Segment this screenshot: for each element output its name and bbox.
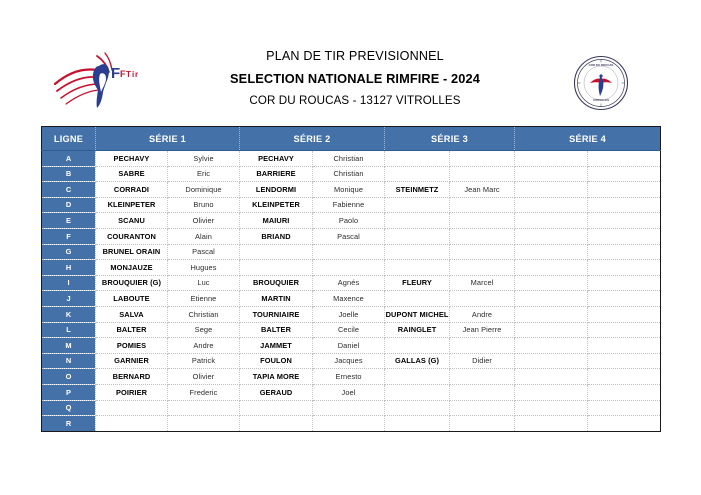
cell-serie4-firstname[interactable]: [588, 400, 661, 416]
cell-serie3-lastname[interactable]: FLEURY: [385, 275, 450, 291]
cell-serie4-firstname[interactable]: [588, 166, 661, 182]
cell-serie2-firstname[interactable]: Christian: [313, 166, 385, 182]
cell-serie3-firstname[interactable]: Jean Pierre: [450, 322, 515, 338]
row-line-label-n: N: [42, 353, 96, 369]
cell-serie2-lastname[interactable]: BALTER: [240, 322, 313, 338]
cell-serie1-firstname[interactable]: Dominique: [168, 182, 240, 198]
cell-serie4-lastname[interactable]: [515, 197, 588, 213]
svg-text:COR DU ROUCAS: COR DU ROUCAS: [589, 63, 614, 67]
cell-serie3-firstname[interactable]: Marcel: [450, 275, 515, 291]
cell-serie3-lastname[interactable]: [385, 400, 450, 416]
cell-serie2-lastname[interactable]: BRIAND: [240, 228, 313, 244]
cell-serie2-lastname[interactable]: TOURNIAIRE: [240, 306, 313, 322]
cell-serie4-firstname[interactable]: [588, 291, 661, 307]
cell-serie1-firstname[interactable]: Hugues: [168, 260, 240, 276]
row-line-label-j: J: [42, 291, 96, 307]
cell-serie2-lastname[interactable]: [240, 400, 313, 416]
cell-serie3-lastname[interactable]: [385, 166, 450, 182]
table-row: R: [42, 416, 661, 432]
cell-serie1-firstname[interactable]: Andre: [168, 338, 240, 354]
cell-serie3-firstname[interactable]: [450, 369, 515, 385]
cell-serie1-lastname[interactable]: BRUNEL ORAIN: [96, 244, 168, 260]
cell-serie3-lastname[interactable]: [385, 369, 450, 385]
cell-serie1-lastname[interactable]: PECHAVY: [96, 151, 168, 167]
column-header-ligne: LIGNE: [42, 127, 96, 151]
cell-serie4-firstname[interactable]: [588, 338, 661, 354]
cell-serie1-lastname[interactable]: BROUQUIER (G): [96, 275, 168, 291]
cell-serie2-firstname[interactable]: [313, 416, 385, 432]
cell-serie3-lastname[interactable]: [385, 151, 450, 167]
cell-serie3-firstname[interactable]: [450, 166, 515, 182]
cell-serie4-lastname[interactable]: [515, 275, 588, 291]
cell-serie4-firstname[interactable]: [588, 353, 661, 369]
title-block: PLAN DE TIR PREVISIONNEL SELECTION NATIO…: [155, 48, 555, 109]
row-line-label-g: G: [42, 244, 96, 260]
table-row: LBALTERSegeBALTERCecileRAINGLETJean Pier…: [42, 322, 661, 338]
cell-serie2-firstname[interactable]: Joelle: [313, 306, 385, 322]
row-line-label-h: H: [42, 260, 96, 276]
fftir-federation-logo: F F T i r: [53, 48, 153, 112]
column-header-serie-1: SÉRIE 1: [96, 127, 240, 151]
cell-serie2-lastname[interactable]: [240, 416, 313, 432]
table-row: OBERNARDOlivierTAPIA MOREErnesto: [42, 369, 661, 385]
cell-serie3-firstname[interactable]: [450, 384, 515, 400]
cell-serie2-lastname[interactable]: KLEINPETER: [240, 197, 313, 213]
cell-serie1-lastname[interactable]: BALTER: [96, 322, 168, 338]
cell-serie4-firstname[interactable]: [588, 213, 661, 229]
cell-serie4-lastname[interactable]: [515, 384, 588, 400]
cell-serie1-lastname[interactable]: SABRE: [96, 166, 168, 182]
cell-serie2-firstname[interactable]: Fabienne: [313, 197, 385, 213]
cell-serie4-firstname[interactable]: [588, 260, 661, 276]
cell-serie4-lastname[interactable]: [515, 338, 588, 354]
cell-serie3-lastname[interactable]: [385, 291, 450, 307]
cell-serie3-firstname[interactable]: [450, 260, 515, 276]
cell-serie1-lastname[interactable]: MONJAUZE: [96, 260, 168, 276]
table-row: GBRUNEL ORAINPascal: [42, 244, 661, 260]
row-line-label-k: K: [42, 306, 96, 322]
cell-serie2-lastname[interactable]: MARTIN: [240, 291, 313, 307]
shooting-plan-table: LIGNE SÉRIE 1 SÉRIE 2 SÉRIE 3 SÉRIE 4 AP…: [41, 126, 661, 432]
cell-serie1-lastname[interactable]: SCANU: [96, 213, 168, 229]
cell-serie4-lastname[interactable]: [515, 182, 588, 198]
cell-serie1-firstname[interactable]: Christian: [168, 306, 240, 322]
cell-serie4-firstname[interactable]: [588, 416, 661, 432]
cell-serie3-lastname[interactable]: [385, 228, 450, 244]
page-title: PLAN DE TIR PREVISIONNEL: [155, 48, 555, 65]
table-header-row: LIGNE SÉRIE 1 SÉRIE 2 SÉRIE 3 SÉRIE 4: [42, 127, 661, 151]
page-location: COR DU ROUCAS - 13127 VITROLLES: [155, 93, 555, 109]
cell-serie2-firstname[interactable]: Monique: [313, 182, 385, 198]
cell-serie2-lastname[interactable]: [240, 244, 313, 260]
cell-serie2-lastname[interactable]: GERAUD: [240, 384, 313, 400]
cell-serie1-firstname[interactable]: Sylvie: [168, 151, 240, 167]
cell-serie4-firstname[interactable]: [588, 306, 661, 322]
row-line-label-b: B: [42, 166, 96, 182]
document-header: F F T i r PLAN DE TIR PREVISIONNEL SELEC…: [0, 0, 701, 122]
cell-serie1-firstname[interactable]: Pascal: [168, 244, 240, 260]
cell-serie4-lastname[interactable]: [515, 151, 588, 167]
table-row: ESCANUOlivierMAIURIPaolo: [42, 213, 661, 229]
cell-serie4-lastname[interactable]: [515, 166, 588, 182]
svg-text:r: r: [135, 70, 138, 79]
row-line-label-m: M: [42, 338, 96, 354]
row-line-label-l: L: [42, 322, 96, 338]
cell-serie4-firstname[interactable]: [588, 228, 661, 244]
cell-serie3-firstname[interactable]: [450, 244, 515, 260]
row-line-label-a: A: [42, 151, 96, 167]
cell-serie2-firstname[interactable]: Agnés: [313, 275, 385, 291]
cell-serie4-lastname[interactable]: [515, 306, 588, 322]
cell-serie1-lastname[interactable]: LABOUTE: [96, 291, 168, 307]
svg-text:VITROLLES: VITROLLES: [593, 98, 609, 102]
cell-serie3-lastname[interactable]: [385, 260, 450, 276]
cell-serie1-lastname[interactable]: SALVA: [96, 306, 168, 322]
cell-serie1-lastname[interactable]: COURANTON: [96, 228, 168, 244]
cell-serie1-firstname[interactable]: Olivier: [168, 213, 240, 229]
cell-serie1-firstname[interactable]: Sege: [168, 322, 240, 338]
cell-serie4-firstname[interactable]: [588, 322, 661, 338]
cell-serie1-lastname[interactable]: POMIES: [96, 338, 168, 354]
cell-serie3-lastname[interactable]: [385, 384, 450, 400]
table-row: FCOURANTONAlainBRIANDPascal: [42, 228, 661, 244]
cell-serie2-firstname[interactable]: Pascal: [313, 228, 385, 244]
cell-serie3-lastname[interactable]: [385, 197, 450, 213]
column-header-serie-2: SÉRIE 2: [240, 127, 385, 151]
cell-serie4-lastname[interactable]: [515, 213, 588, 229]
cell-serie4-lastname[interactable]: [515, 260, 588, 276]
row-line-label-r: R: [42, 416, 96, 432]
cell-serie3-firstname[interactable]: [450, 291, 515, 307]
cell-serie2-firstname[interactable]: Joel: [313, 384, 385, 400]
cell-serie3-firstname[interactable]: [450, 213, 515, 229]
row-line-label-p: P: [42, 384, 96, 400]
table-row: MPOMIESAndreJAMMETDaniel: [42, 338, 661, 354]
cell-serie4-lastname[interactable]: [515, 353, 588, 369]
cell-serie3-lastname[interactable]: RAINGLET: [385, 322, 450, 338]
cell-serie1-firstname[interactable]: [168, 416, 240, 432]
cell-serie2-firstname[interactable]: Maxence: [313, 291, 385, 307]
row-line-label-q: Q: [42, 400, 96, 416]
page-subtitle: SELECTION NATIONALE RIMFIRE - 2024: [155, 70, 555, 87]
cell-serie3-firstname[interactable]: [450, 151, 515, 167]
cell-serie3-firstname[interactable]: Didier: [450, 353, 515, 369]
column-header-serie-4: SÉRIE 4: [515, 127, 661, 151]
cell-serie1-firstname[interactable]: Bruno: [168, 197, 240, 213]
row-line-label-o: O: [42, 369, 96, 385]
cell-serie2-lastname[interactable]: JAMMET: [240, 338, 313, 354]
cell-serie2-lastname[interactable]: LENDORMI: [240, 182, 313, 198]
cell-serie1-lastname[interactable]: CORRADI: [96, 182, 168, 198]
svg-text:i: i: [132, 70, 134, 79]
cell-serie4-firstname[interactable]: [588, 197, 661, 213]
cell-serie3-lastname[interactable]: [385, 244, 450, 260]
table-row: PPOIRIERFredericGERAUDJoel: [42, 384, 661, 400]
cell-serie4-lastname[interactable]: [515, 416, 588, 432]
cell-serie2-firstname[interactable]: Cecile: [313, 322, 385, 338]
cell-serie4-lastname[interactable]: [515, 369, 588, 385]
cell-serie2-lastname[interactable]: BARRIERE: [240, 166, 313, 182]
cell-serie2-lastname[interactable]: FOULON: [240, 353, 313, 369]
svg-text:T: T: [126, 70, 131, 79]
cell-serie2-firstname[interactable]: [313, 400, 385, 416]
cell-serie3-lastname[interactable]: GALLAS (G): [385, 353, 450, 369]
column-header-serie-3: SÉRIE 3: [385, 127, 515, 151]
cell-serie3-firstname[interactable]: Jean Marc: [450, 182, 515, 198]
table-row: JLABOUTEEtienneMARTINMaxence: [42, 291, 661, 307]
table-row: NGARNIERPatrickFOULONJacquesGALLAS (G)Di…: [42, 353, 661, 369]
cell-serie2-lastname[interactable]: BROUQUIER: [240, 275, 313, 291]
cell-serie3-firstname[interactable]: Andre: [450, 306, 515, 322]
cell-serie3-lastname[interactable]: [385, 416, 450, 432]
cell-serie3-lastname[interactable]: [385, 338, 450, 354]
cell-serie3-lastname[interactable]: STEINMETZ: [385, 182, 450, 198]
cell-serie4-lastname[interactable]: [515, 228, 588, 244]
cell-serie2-lastname[interactable]: TAPIA MORE: [240, 369, 313, 385]
cell-serie1-lastname[interactable]: BERNARD: [96, 369, 168, 385]
svg-text:F: F: [111, 65, 120, 82]
cell-serie1-firstname[interactable]: Frederic: [168, 384, 240, 400]
cell-serie1-lastname[interactable]: [96, 416, 168, 432]
cell-serie3-firstname[interactable]: [450, 400, 515, 416]
cell-serie1-firstname[interactable]: Luc: [168, 275, 240, 291]
cell-serie3-firstname[interactable]: [450, 338, 515, 354]
cell-serie1-firstname[interactable]: Alain: [168, 228, 240, 244]
cell-serie2-lastname[interactable]: [240, 260, 313, 276]
cell-serie1-lastname[interactable]: [96, 400, 168, 416]
cell-serie2-firstname[interactable]: [313, 244, 385, 260]
cell-serie4-firstname[interactable]: [588, 244, 661, 260]
table-row: IBROUQUIER (G)LucBROUQUIERAgnésFLEURYMar…: [42, 275, 661, 291]
cell-serie4-lastname[interactable]: [515, 291, 588, 307]
cell-serie4-lastname[interactable]: [515, 322, 588, 338]
cell-serie2-firstname[interactable]: Daniel: [313, 338, 385, 354]
cell-serie3-firstname[interactable]: [450, 416, 515, 432]
cell-serie4-lastname[interactable]: [515, 400, 588, 416]
club-seal-logo: COR DU ROUCAS VITROLLES: [566, 52, 636, 114]
cell-serie3-lastname[interactable]: [385, 213, 450, 229]
row-line-label-e: E: [42, 213, 96, 229]
cell-serie4-lastname[interactable]: [515, 244, 588, 260]
cell-serie2-firstname[interactable]: Christian: [313, 151, 385, 167]
table-row: APECHAVYSylviePECHAVYChristian: [42, 151, 661, 167]
cell-serie2-firstname[interactable]: Paolo: [313, 213, 385, 229]
cell-serie1-firstname[interactable]: Etienne: [168, 291, 240, 307]
row-line-label-c: C: [42, 182, 96, 198]
cell-serie4-firstname[interactable]: [588, 275, 661, 291]
row-line-label-f: F: [42, 228, 96, 244]
cell-serie2-firstname[interactable]: Ernesto: [313, 369, 385, 385]
cell-serie3-firstname[interactable]: [450, 228, 515, 244]
table-row: Q: [42, 400, 661, 416]
table-row: KSALVAChristianTOURNIAIREJoelleDUPONT MI…: [42, 306, 661, 322]
cell-serie1-firstname[interactable]: [168, 400, 240, 416]
table-row: BSABREEricBARRIEREChristian: [42, 166, 661, 182]
cell-serie4-firstname[interactable]: [588, 182, 661, 198]
cell-serie2-lastname[interactable]: MAIURI: [240, 213, 313, 229]
cell-serie3-firstname[interactable]: [450, 197, 515, 213]
table-row: HMONJAUZEHugues: [42, 260, 661, 276]
cell-serie1-lastname[interactable]: GARNIER: [96, 353, 168, 369]
row-line-label-i: I: [42, 275, 96, 291]
cell-serie4-firstname[interactable]: [588, 369, 661, 385]
cell-serie1-lastname[interactable]: POIRIER: [96, 384, 168, 400]
table-row: CCORRADIDominiqueLENDORMIMoniqueSTEINMET…: [42, 182, 661, 198]
cell-serie1-firstname[interactable]: Olivier: [168, 369, 240, 385]
cell-serie2-lastname[interactable]: PECHAVY: [240, 151, 313, 167]
table-row: DKLEINPETERBrunoKLEINPETERFabienne: [42, 197, 661, 213]
cell-serie4-firstname[interactable]: [588, 384, 661, 400]
cell-serie2-firstname[interactable]: Jacques: [313, 353, 385, 369]
cell-serie3-lastname[interactable]: DUPONT MICHEL: [385, 306, 450, 322]
cell-serie2-firstname[interactable]: [313, 260, 385, 276]
cell-serie1-firstname[interactable]: Patrick: [168, 353, 240, 369]
cell-serie1-firstname[interactable]: Eric: [168, 166, 240, 182]
cell-serie4-firstname[interactable]: [588, 151, 661, 167]
row-line-label-d: D: [42, 197, 96, 213]
cell-serie1-lastname[interactable]: KLEINPETER: [96, 197, 168, 213]
